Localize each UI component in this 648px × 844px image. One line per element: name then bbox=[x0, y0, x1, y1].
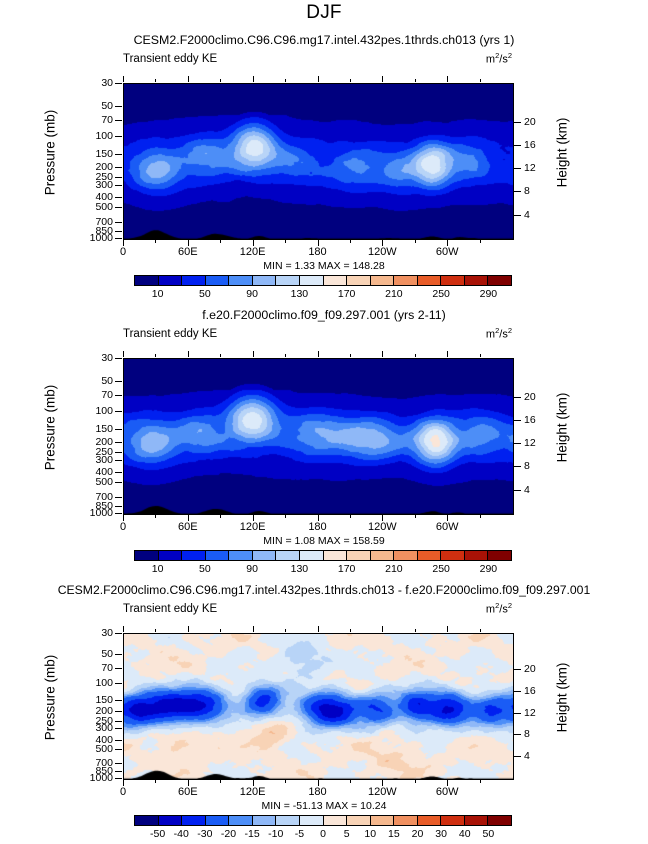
longitude-tick-mark bbox=[188, 626, 189, 632]
colorbar-swatch[interactable] bbox=[394, 816, 418, 825]
longitude-tick-label: 60W bbox=[422, 786, 472, 798]
longitude-tick-mark bbox=[318, 76, 319, 82]
pressure-tick-mark bbox=[115, 506, 122, 507]
pressure-tick-mark bbox=[115, 497, 122, 498]
colorbar-tick-label: 50 bbox=[199, 563, 211, 575]
pressure-tick-mark bbox=[115, 238, 122, 239]
longitude-tick-mark bbox=[155, 629, 156, 632]
pressure-tick-mark bbox=[115, 472, 122, 473]
height-tick-label: 20 bbox=[524, 392, 536, 402]
colorbar-swatch[interactable] bbox=[418, 276, 442, 285]
panel-3-variable-label: Transient eddy KE bbox=[123, 603, 217, 615]
pressure-tick-mark bbox=[115, 358, 122, 359]
pressure-tick-label: 100 bbox=[75, 131, 113, 141]
panel-3-title: CESM2.F2000climo.C96.C96.mg17.intel.432p… bbox=[0, 583, 648, 597]
height-tick-mark bbox=[514, 490, 521, 491]
units-per-s: /s bbox=[499, 604, 508, 616]
pressure-tick-mark bbox=[115, 429, 122, 430]
height-tick-mark bbox=[514, 443, 521, 444]
longitude-tick-mark bbox=[155, 515, 156, 518]
height-tick-label: 8 bbox=[524, 186, 530, 196]
pressure-tick-label: 1000 bbox=[75, 773, 113, 783]
height-tick-label: 16 bbox=[524, 415, 536, 425]
height-tick-mark bbox=[514, 420, 521, 421]
colorbar-tick-label: 170 bbox=[338, 563, 356, 575]
longitude-tick-mark bbox=[480, 354, 481, 357]
panel-2-plot-area[interactable] bbox=[123, 358, 514, 515]
units-m: m bbox=[486, 329, 495, 341]
pressure-tick-label: 70 bbox=[75, 390, 113, 400]
colorbar-swatch[interactable] bbox=[441, 276, 465, 285]
pressure-tick-label: 30 bbox=[75, 628, 113, 638]
panel-2-colorbar-labels: 105090130170210250290 bbox=[134, 563, 512, 577]
panel-3-colorbar[interactable] bbox=[134, 815, 512, 826]
panel-1-contour-canvas bbox=[124, 84, 513, 239]
longitude-tick-mark bbox=[285, 780, 286, 783]
colorbar-swatch[interactable] bbox=[324, 276, 348, 285]
panel-2-ylabel-right: Height (km) bbox=[555, 353, 570, 503]
pressure-tick-mark bbox=[115, 749, 122, 750]
colorbar-tick-label: 290 bbox=[480, 563, 498, 575]
panel-1-units-label: m2/s2 bbox=[486, 51, 512, 66]
colorbar-swatch[interactable] bbox=[394, 551, 418, 560]
panel-2-contour-canvas bbox=[124, 359, 513, 514]
panel-2-minmax: MIN = 1.08 MAX = 158.59 bbox=[0, 535, 648, 547]
longitude-tick-mark bbox=[415, 629, 416, 632]
colorbar-swatch[interactable] bbox=[229, 551, 253, 560]
colorbar-swatch[interactable] bbox=[253, 816, 277, 825]
colorbar-swatch[interactable] bbox=[182, 816, 206, 825]
pressure-tick-mark bbox=[115, 167, 122, 168]
pressure-tick-label: 300 bbox=[75, 723, 113, 733]
colorbar-swatch[interactable] bbox=[253, 551, 277, 560]
pressure-tick-mark bbox=[115, 771, 122, 772]
pressure-tick-mark bbox=[115, 683, 122, 684]
panel-3-units-label: m2/s2 bbox=[486, 601, 512, 616]
height-tick-label: 12 bbox=[524, 438, 536, 448]
pressure-tick-label: 300 bbox=[75, 180, 113, 190]
longitude-tick-mark bbox=[415, 780, 416, 783]
colorbar-tick-label: -40 bbox=[174, 828, 189, 840]
units-exp-2: 2 bbox=[508, 51, 512, 60]
pressure-tick-mark bbox=[115, 460, 122, 461]
longitude-tick-mark bbox=[253, 76, 254, 82]
panel-1-colorbar-labels: 105090130170210250290 bbox=[134, 288, 512, 302]
pressure-tick-mark bbox=[115, 222, 122, 223]
colorbar-tick-label: 20 bbox=[412, 828, 424, 840]
colorbar-tick-label: 290 bbox=[480, 288, 498, 300]
colorbar-tick-label: -30 bbox=[197, 828, 212, 840]
longitude-tick-label: 60E bbox=[163, 246, 213, 258]
pressure-tick-mark bbox=[115, 711, 122, 712]
longitude-tick-label: 120W bbox=[357, 521, 407, 533]
longitude-tick-mark bbox=[285, 515, 286, 518]
longitude-tick-mark bbox=[253, 626, 254, 632]
pressure-tick-mark bbox=[115, 197, 122, 198]
panel-1-ylabel-left: Pressure (mb) bbox=[43, 78, 58, 228]
longitude-tick-mark bbox=[382, 351, 383, 357]
colorbar-tick-label: 210 bbox=[385, 563, 403, 575]
longitude-tick-mark bbox=[220, 354, 221, 357]
height-tick-mark bbox=[514, 191, 521, 192]
colorbar-swatch[interactable] bbox=[276, 816, 300, 825]
colorbar-swatch[interactable] bbox=[135, 816, 159, 825]
figure-page: DJF CESM2.F2000climo.C96.C96.mg17.intel.… bbox=[0, 0, 648, 844]
longitude-tick-mark bbox=[285, 354, 286, 357]
height-tick-mark bbox=[514, 669, 521, 670]
height-tick-mark bbox=[514, 168, 521, 169]
pressure-tick-mark bbox=[115, 633, 122, 634]
longitude-tick-label: 0 bbox=[98, 521, 148, 533]
pressure-tick-mark bbox=[115, 83, 122, 84]
colorbar-swatch[interactable] bbox=[488, 276, 511, 285]
colorbar-tick-label: 10 bbox=[152, 288, 164, 300]
units-m: m bbox=[486, 54, 495, 66]
pressure-tick-label: 100 bbox=[75, 678, 113, 688]
pressure-tick-mark bbox=[115, 207, 122, 208]
units-exp-2: 2 bbox=[508, 326, 512, 335]
colorbar-tick-label: 210 bbox=[385, 288, 403, 300]
pressure-tick-label: 30 bbox=[75, 78, 113, 88]
colorbar-swatch[interactable] bbox=[394, 276, 418, 285]
panel-3-minmax: MIN = -51.13 MAX = 10.24 bbox=[0, 800, 648, 812]
pressure-tick-mark bbox=[115, 136, 122, 137]
panel-3-colorbar-labels: -50-40-30-20-15-10-505101520304050 bbox=[134, 828, 512, 842]
height-tick-mark bbox=[514, 397, 521, 398]
longitude-tick-mark bbox=[415, 354, 416, 357]
longitude-tick-mark bbox=[480, 79, 481, 82]
longitude-tick-label: 60E bbox=[163, 786, 213, 798]
colorbar-tick-label: -10 bbox=[268, 828, 283, 840]
longitude-tick-mark bbox=[220, 629, 221, 632]
colorbar-tick-label: 15 bbox=[388, 828, 400, 840]
longitude-tick-mark bbox=[382, 76, 383, 82]
pressure-tick-label: 500 bbox=[75, 744, 113, 754]
longitude-tick-mark bbox=[350, 354, 351, 357]
height-tick-label: 4 bbox=[524, 751, 530, 761]
units-per-s: /s bbox=[499, 329, 508, 341]
height-tick-label: 4 bbox=[524, 210, 530, 220]
pressure-tick-mark bbox=[115, 231, 122, 232]
longitude-tick-mark bbox=[253, 351, 254, 357]
height-tick-mark bbox=[514, 756, 521, 757]
longitude-tick-mark bbox=[188, 76, 189, 82]
colorbar-tick-label: 130 bbox=[291, 288, 309, 300]
colorbar-swatch[interactable] bbox=[441, 551, 465, 560]
panel-1-minmax: MIN = 1.33 MAX = 148.28 bbox=[0, 260, 648, 272]
colorbar-swatch[interactable] bbox=[465, 276, 489, 285]
longitude-tick-label: 180 bbox=[293, 246, 343, 258]
height-tick-label: 20 bbox=[524, 664, 536, 674]
pressure-tick-mark bbox=[115, 106, 122, 107]
colorbar-swatch[interactable] bbox=[418, 551, 442, 560]
colorbar-swatch[interactable] bbox=[418, 816, 442, 825]
panel-1-variable-label: Transient eddy KE bbox=[123, 53, 217, 65]
longitude-tick-mark bbox=[188, 351, 189, 357]
colorbar-swatch[interactable] bbox=[371, 551, 395, 560]
colorbar-swatch[interactable] bbox=[465, 551, 489, 560]
pressure-tick-label: 500 bbox=[75, 202, 113, 212]
pressure-tick-label: 70 bbox=[75, 115, 113, 125]
height-tick-label: 20 bbox=[524, 117, 536, 127]
longitude-tick-mark bbox=[155, 354, 156, 357]
panel-3-contour-canvas bbox=[124, 634, 513, 779]
longitude-tick-mark bbox=[220, 79, 221, 82]
pressure-tick-mark bbox=[115, 728, 122, 729]
colorbar-tick-label: 170 bbox=[338, 288, 356, 300]
colorbar-tick-label: 5 bbox=[344, 828, 350, 840]
longitude-tick-label: 120E bbox=[228, 521, 278, 533]
longitude-tick-mark bbox=[318, 626, 319, 632]
pressure-tick-label: 50 bbox=[75, 376, 113, 386]
pressure-tick-mark bbox=[115, 154, 122, 155]
colorbar-tick-label: 130 bbox=[291, 563, 309, 575]
colorbar-swatch[interactable] bbox=[253, 276, 277, 285]
pressure-tick-label: 50 bbox=[75, 101, 113, 111]
pressure-tick-mark bbox=[115, 185, 122, 186]
pressure-tick-mark bbox=[115, 513, 122, 514]
longitude-tick-mark bbox=[382, 626, 383, 632]
longitude-tick-mark bbox=[123, 626, 124, 632]
height-tick-label: 16 bbox=[524, 140, 536, 150]
pressure-tick-mark bbox=[115, 740, 122, 741]
panel-2-title: f.e20.F2000climo.f09_f09.297.001 (yrs 2-… bbox=[0, 308, 648, 322]
longitude-tick-mark bbox=[415, 79, 416, 82]
colorbar-swatch[interactable] bbox=[300, 551, 324, 560]
colorbar-tick-label: 90 bbox=[246, 288, 258, 300]
pressure-tick-label: 150 bbox=[75, 149, 113, 159]
season-title: DJF bbox=[0, 2, 648, 24]
pressure-tick-mark bbox=[115, 721, 122, 722]
pressure-tick-mark bbox=[115, 442, 122, 443]
colorbar-swatch[interactable] bbox=[159, 276, 183, 285]
pressure-tick-mark bbox=[115, 668, 122, 669]
colorbar-swatch[interactable] bbox=[324, 551, 348, 560]
longitude-tick-label: 60W bbox=[422, 246, 472, 258]
longitude-tick-mark bbox=[123, 76, 124, 82]
pressure-tick-mark bbox=[115, 654, 122, 655]
colorbar-tick-label: 30 bbox=[435, 828, 447, 840]
panel-1-ylabel-right: Height (km) bbox=[555, 78, 570, 228]
colorbar-swatch[interactable] bbox=[441, 816, 465, 825]
colorbar-swatch[interactable] bbox=[229, 276, 253, 285]
colorbar-swatch[interactable] bbox=[371, 816, 395, 825]
colorbar-tick-label: -5 bbox=[295, 828, 304, 840]
height-tick-mark bbox=[514, 691, 521, 692]
pressure-tick-label: 1000 bbox=[75, 508, 113, 518]
longitude-tick-mark bbox=[285, 79, 286, 82]
pressure-tick-mark bbox=[115, 452, 122, 453]
colorbar-tick-label: 250 bbox=[432, 563, 450, 575]
pressure-tick-mark bbox=[115, 381, 122, 382]
panel-3-ylabel-right: Height (km) bbox=[555, 623, 570, 773]
longitude-tick-label: 60W bbox=[422, 521, 472, 533]
longitude-tick-label: 180 bbox=[293, 786, 343, 798]
longitude-tick-mark bbox=[285, 240, 286, 243]
colorbar-tick-label: -50 bbox=[150, 828, 165, 840]
pressure-tick-mark bbox=[115, 411, 122, 412]
pressure-tick-mark bbox=[115, 482, 122, 483]
colorbar-swatch[interactable] bbox=[371, 276, 395, 285]
pressure-tick-mark bbox=[115, 778, 122, 779]
height-tick-label: 8 bbox=[524, 461, 530, 471]
height-tick-mark bbox=[514, 466, 521, 467]
longitude-tick-mark bbox=[220, 780, 221, 783]
colorbar-swatch[interactable] bbox=[347, 551, 371, 560]
colorbar-swatch[interactable] bbox=[135, 276, 159, 285]
pressure-tick-label: 50 bbox=[75, 649, 113, 659]
colorbar-swatch[interactable] bbox=[488, 551, 511, 560]
pressure-tick-label: 100 bbox=[75, 406, 113, 416]
height-tick-mark bbox=[514, 734, 521, 735]
colorbar-swatch[interactable] bbox=[159, 551, 183, 560]
colorbar-swatch[interactable] bbox=[182, 551, 206, 560]
panel-3-plot-area[interactable] bbox=[123, 633, 514, 780]
panel-1-plot-area[interactable] bbox=[123, 83, 514, 240]
pressure-tick-mark bbox=[115, 120, 122, 121]
longitude-tick-mark bbox=[350, 515, 351, 518]
pressure-tick-label: 1000 bbox=[75, 233, 113, 243]
longitude-tick-mark bbox=[155, 240, 156, 243]
panel-2-colorbar[interactable] bbox=[134, 550, 512, 561]
longitude-tick-mark bbox=[480, 780, 481, 783]
longitude-tick-mark bbox=[447, 351, 448, 357]
longitude-tick-mark bbox=[480, 240, 481, 243]
pressure-tick-mark bbox=[115, 395, 122, 396]
colorbar-swatch[interactable] bbox=[229, 816, 253, 825]
colorbar-swatch[interactable] bbox=[347, 276, 371, 285]
panel-3-ylabel-left: Pressure (mb) bbox=[43, 623, 58, 773]
longitude-tick-mark bbox=[155, 780, 156, 783]
longitude-tick-label: 0 bbox=[98, 786, 148, 798]
longitude-tick-label: 120E bbox=[228, 246, 278, 258]
colorbar-tick-label: -20 bbox=[221, 828, 236, 840]
longitude-tick-mark bbox=[415, 515, 416, 518]
height-tick-mark bbox=[514, 122, 521, 123]
longitude-tick-mark bbox=[123, 351, 124, 357]
colorbar-swatch[interactable] bbox=[206, 816, 230, 825]
panel-1-title: CESM2.F2000climo.C96.C96.mg17.intel.432p… bbox=[0, 33, 648, 47]
longitude-tick-label: 120E bbox=[228, 786, 278, 798]
colorbar-tick-label: 10 bbox=[364, 828, 376, 840]
longitude-tick-mark bbox=[350, 240, 351, 243]
pressure-tick-label: 30 bbox=[75, 353, 113, 363]
pressure-tick-mark bbox=[115, 177, 122, 178]
height-tick-label: 12 bbox=[524, 163, 536, 173]
panel-1-colorbar[interactable] bbox=[134, 275, 512, 286]
height-tick-mark bbox=[514, 215, 521, 216]
height-tick-label: 16 bbox=[524, 686, 536, 696]
height-tick-mark bbox=[514, 145, 521, 146]
pressure-tick-mark bbox=[115, 763, 122, 764]
longitude-tick-mark bbox=[447, 76, 448, 82]
longitude-tick-mark bbox=[220, 515, 221, 518]
pressure-tick-mark bbox=[115, 700, 122, 701]
longitude-tick-mark bbox=[350, 780, 351, 783]
panel-2-variable-label: Transient eddy KE bbox=[123, 328, 217, 340]
longitude-tick-mark bbox=[220, 240, 221, 243]
longitude-tick-mark bbox=[285, 629, 286, 632]
panel-2-units-label: m2/s2 bbox=[486, 326, 512, 341]
longitude-tick-label: 60E bbox=[163, 521, 213, 533]
colorbar-tick-label: 0 bbox=[320, 828, 326, 840]
longitude-tick-mark bbox=[318, 351, 319, 357]
longitude-tick-mark bbox=[415, 240, 416, 243]
units-per-s: /s bbox=[499, 54, 508, 66]
height-tick-label: 8 bbox=[524, 729, 530, 739]
pressure-tick-label: 500 bbox=[75, 477, 113, 487]
colorbar-tick-label: 50 bbox=[199, 288, 211, 300]
colorbar-swatch[interactable] bbox=[276, 276, 300, 285]
colorbar-tick-label: -15 bbox=[245, 828, 260, 840]
longitude-tick-label: 120W bbox=[357, 786, 407, 798]
longitude-tick-label: 120W bbox=[357, 246, 407, 258]
colorbar-swatch[interactable] bbox=[324, 816, 348, 825]
longitude-tick-mark bbox=[447, 626, 448, 632]
pressure-tick-label: 150 bbox=[75, 695, 113, 705]
height-tick-label: 4 bbox=[524, 485, 530, 495]
pressure-tick-label: 70 bbox=[75, 663, 113, 673]
panel-2-ylabel-left: Pressure (mb) bbox=[43, 353, 58, 503]
longitude-tick-mark bbox=[350, 629, 351, 632]
units-exp-2: 2 bbox=[508, 601, 512, 610]
longitude-tick-mark bbox=[155, 79, 156, 82]
colorbar-tick-label: 40 bbox=[459, 828, 471, 840]
colorbar-swatch[interactable] bbox=[300, 276, 324, 285]
longitude-tick-label: 180 bbox=[293, 521, 343, 533]
colorbar-tick-label: 250 bbox=[432, 288, 450, 300]
colorbar-swatch[interactable] bbox=[182, 276, 206, 285]
colorbar-swatch[interactable] bbox=[488, 816, 511, 825]
colorbar-swatch[interactable] bbox=[159, 816, 183, 825]
colorbar-tick-label: 50 bbox=[483, 828, 495, 840]
colorbar-swatch[interactable] bbox=[135, 551, 159, 560]
colorbar-swatch[interactable] bbox=[206, 276, 230, 285]
colorbar-swatch[interactable] bbox=[465, 816, 489, 825]
colorbar-tick-label: 90 bbox=[246, 563, 258, 575]
longitude-tick-mark bbox=[480, 515, 481, 518]
height-tick-label: 12 bbox=[524, 708, 536, 718]
longitude-tick-label: 0 bbox=[98, 246, 148, 258]
colorbar-swatch[interactable] bbox=[300, 816, 324, 825]
colorbar-swatch[interactable] bbox=[276, 551, 300, 560]
colorbar-tick-label: 10 bbox=[152, 563, 164, 575]
longitude-tick-mark bbox=[480, 629, 481, 632]
height-tick-mark bbox=[514, 713, 521, 714]
longitude-tick-mark bbox=[350, 79, 351, 82]
colorbar-swatch[interactable] bbox=[206, 551, 230, 560]
pressure-tick-label: 150 bbox=[75, 424, 113, 434]
units-m: m bbox=[486, 604, 495, 616]
pressure-tick-label: 300 bbox=[75, 455, 113, 465]
colorbar-swatch[interactable] bbox=[347, 816, 371, 825]
